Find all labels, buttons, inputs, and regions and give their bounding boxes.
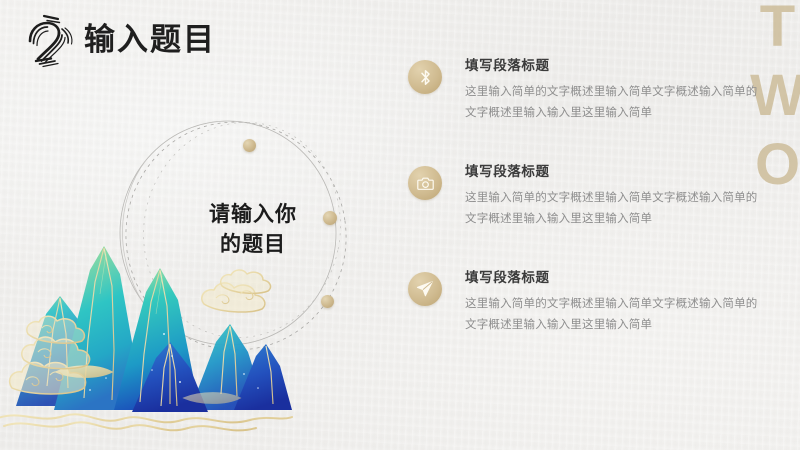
slide-header: 输入题目 bbox=[18, 6, 216, 72]
bullet-text: 填写段落标题 这里输入简单的文字概述里输入简单文字概述输入简单的文字概述里输入输… bbox=[465, 58, 780, 124]
bullet-blocks: 填写段落标题 这里输入简单的文字概述里输入简单文字概述输入简单的文字概述里输入输… bbox=[408, 58, 780, 336]
camera-icon[interactable] bbox=[408, 166, 442, 200]
bullet-text: 填写段落标题 这里输入简单的文字概述里输入简单文字概述输入简单的文字概述里输入输… bbox=[465, 164, 780, 230]
orbit-dot-1 bbox=[243, 139, 256, 152]
bullet-block: 填写段落标题 这里输入简单的文字概述里输入简单文字概述输入简单的文字概述里输入输… bbox=[408, 270, 780, 336]
bullet-text: 填写段落标题 这里输入简单的文字概述里输入简单文字概述输入简单的文字概述里输入输… bbox=[465, 270, 780, 336]
bullet-body: 这里输入简单的文字概述里输入简单文字概述输入简单的文字概述里输入输入里这里输入简… bbox=[465, 82, 765, 124]
brush-numeral-two-icon bbox=[18, 7, 80, 71]
bullet-block: 填写段落标题 这里输入简单的文字概述里输入简单文字概述输入简单的文字概述里输入输… bbox=[408, 58, 780, 124]
bullet-heading: 填写段落标题 bbox=[465, 58, 780, 74]
chinese-mountain-illustration bbox=[0, 174, 294, 442]
slide-canvas: TWO bbox=[0, 0, 800, 450]
bullet-heading: 填写段落标题 bbox=[465, 164, 780, 180]
bullet-heading: 填写段落标题 bbox=[465, 270, 780, 286]
bullet-block: 填写段落标题 这里输入简单的文字概述里输入简单文字概述输入简单的文字概述里输入输… bbox=[408, 164, 780, 230]
paper-plane-icon[interactable] bbox=[408, 272, 442, 306]
orbit-dot-3 bbox=[321, 295, 334, 308]
bluetooth-icon[interactable] bbox=[408, 60, 442, 94]
bullet-body: 这里输入简单的文字概述里输入简单文字概述输入简单的文字概述里输入输入里这里输入简… bbox=[465, 294, 765, 336]
bullet-body: 这里输入简单的文字概述里输入简单文字概述输入简单的文字概述里输入输入里这里输入简… bbox=[465, 188, 765, 230]
page-title: 输入题目 bbox=[84, 24, 216, 55]
